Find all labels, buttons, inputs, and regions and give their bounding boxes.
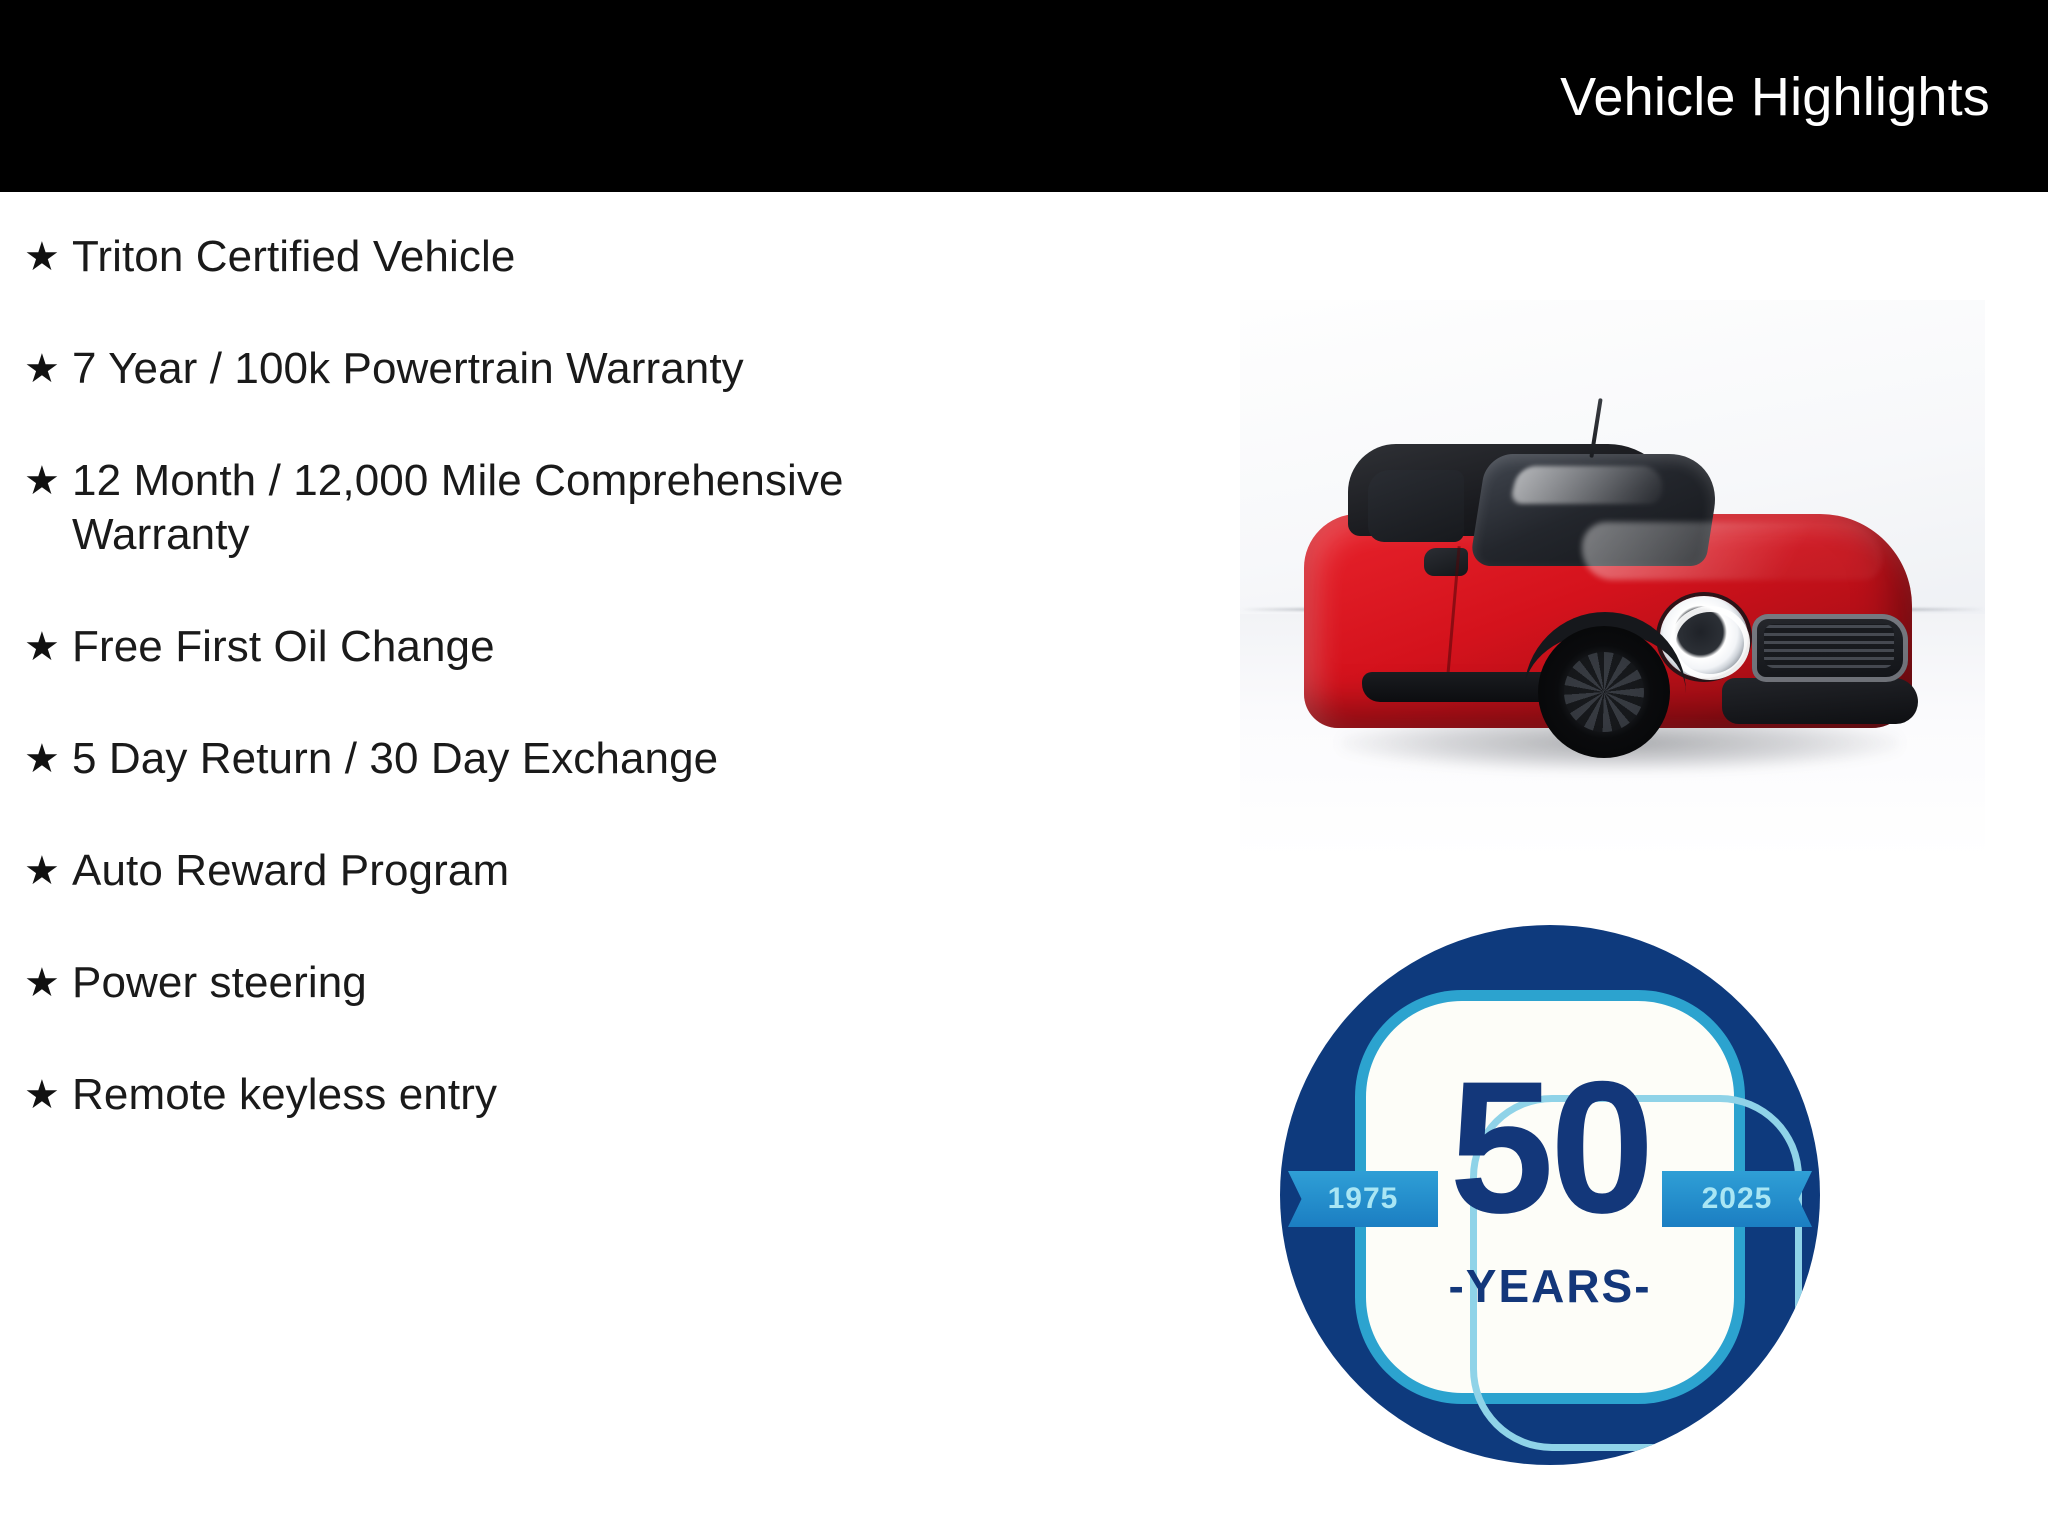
badge-start-year-label: 1975	[1328, 1184, 1399, 1214]
list-item-label: 7 Year / 100k Powertrain Warranty	[72, 342, 930, 396]
star-icon: ★	[24, 732, 72, 786]
car-front-bumper	[1722, 678, 1918, 724]
vehicle-photo	[1240, 300, 1985, 860]
list-item: ★ 12 Month / 12,000 Mile Comprehensive W…	[0, 454, 950, 562]
car-illustration	[1282, 396, 1942, 796]
badge-years-label: -YEARS-	[1280, 1263, 1820, 1309]
badge-circle: 50 -YEARS- 1975 2025	[1280, 925, 1820, 1465]
star-icon: ★	[24, 454, 72, 508]
star-icon: ★	[24, 844, 72, 898]
badge-ribbon-end-year: 2025	[1662, 1171, 1812, 1227]
list-item-label: Power steering	[72, 956, 930, 1010]
list-item: ★ Free First Oil Change	[0, 620, 950, 674]
car-windshield-sheen	[1509, 466, 1668, 504]
vehicle-highlights-list: ★ Triton Certified Vehicle ★ 7 Year / 10…	[0, 192, 950, 1536]
star-icon: ★	[24, 342, 72, 396]
list-item: ★ 5 Day Return / 30 Day Exchange	[0, 732, 950, 786]
header-bar: Vehicle Highlights	[0, 0, 2048, 192]
list-item: ★ Triton Certified Vehicle	[0, 230, 950, 284]
car-front-wheel	[1538, 626, 1670, 758]
badge-end-year-label: 2025	[1702, 1184, 1773, 1214]
anniversary-badge: 50 -YEARS- 1975 2025	[1280, 925, 1820, 1465]
car-hood-highlight	[1582, 522, 1882, 580]
vehicle-highlights-page: Vehicle Highlights ★ Triton Certified Ve…	[0, 0, 2048, 1536]
list-item-label: Free First Oil Change	[72, 620, 930, 674]
badge-ribbon-start-year: 1975	[1288, 1171, 1438, 1227]
car-side-window	[1368, 470, 1464, 542]
star-icon: ★	[24, 1068, 72, 1122]
page-title: Vehicle Highlights	[1560, 70, 1990, 124]
list-item-label: Remote keyless entry	[72, 1068, 930, 1122]
car-side-mirror	[1424, 548, 1468, 576]
list-item-label: Triton Certified Vehicle	[72, 230, 930, 284]
car-grille-slats	[1764, 624, 1894, 668]
star-icon: ★	[24, 620, 72, 674]
media-column: 50 -YEARS- 1975 2025	[950, 192, 2048, 1536]
list-item-label: Auto Reward Program	[72, 844, 930, 898]
list-item: ★ Power steering	[0, 956, 950, 1010]
star-icon: ★	[24, 956, 72, 1010]
list-item: ★ 7 Year / 100k Powertrain Warranty	[0, 342, 950, 396]
list-item: ★ Remote keyless entry	[0, 1068, 950, 1122]
list-item: ★ Auto Reward Program	[0, 844, 950, 898]
star-icon: ★	[24, 230, 72, 284]
list-item-label: 5 Day Return / 30 Day Exchange	[72, 732, 930, 786]
list-item-label: 12 Month / 12,000 Mile Comprehensive War…	[72, 454, 930, 562]
